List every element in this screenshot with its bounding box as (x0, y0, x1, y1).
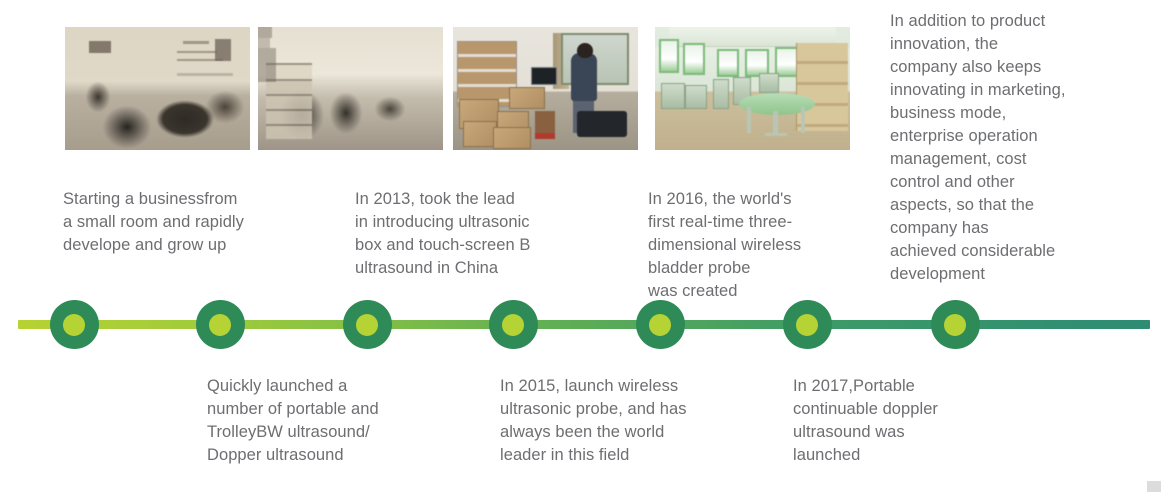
photo-early-office (65, 27, 250, 150)
caption-milestone-2017: In 2017,Portable continuable doppler ult… (793, 375, 1028, 467)
photo-showroom-image (655, 27, 850, 150)
caption-milestone-2013: In 2013, took the lead in introducing ul… (355, 188, 560, 280)
timeline-node-7[interactable] (931, 300, 980, 349)
caption-portable-trolley: Quickly launched a number of portable an… (207, 375, 457, 467)
photo-packing-warehouse-image (453, 27, 638, 150)
timeline-node-2[interactable] (196, 300, 245, 349)
caption-milestone-2016: In 2016, the world's first real-time thr… (648, 188, 853, 303)
timeline-node-4[interactable] (489, 300, 538, 349)
photo-workshop-room (258, 27, 443, 150)
photo-early-office-image (65, 27, 250, 150)
photo-showroom (655, 27, 850, 150)
timeline-node-1[interactable] (50, 300, 99, 349)
caption-innovation-summary: In addition to product innovation, the c… (890, 10, 1152, 286)
timeline-node-6[interactable] (783, 300, 832, 349)
timeline-infographic: Starting a businessfrom a small room and… (0, 0, 1165, 495)
caption-milestone-1: Starting a businessfrom a small room and… (63, 188, 338, 257)
timeline-axis (18, 320, 1150, 329)
caption-milestone-2015: In 2015, launch wireless ultrasonic prob… (500, 375, 750, 467)
photo-packing-warehouse (453, 27, 638, 150)
timeline-node-5[interactable] (636, 300, 685, 349)
corner-watermark (1147, 481, 1161, 492)
timeline-node-3[interactable] (343, 300, 392, 349)
photo-workshop-room-image (258, 27, 443, 150)
